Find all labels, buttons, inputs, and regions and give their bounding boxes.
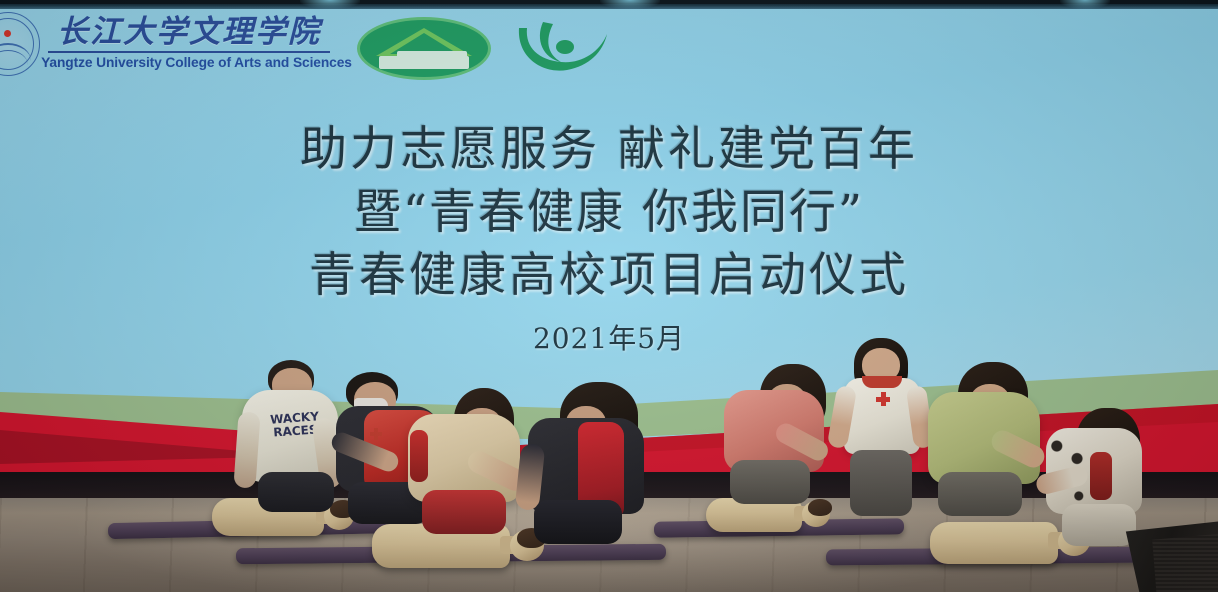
red-accent — [1090, 452, 1112, 500]
polo-collar — [862, 376, 902, 388]
seal-dot — [4, 30, 11, 37]
green-swoosh-health-logo-icon — [513, 14, 609, 78]
trainee-red-black-coat — [526, 382, 676, 552]
slide-title-line-1: 助力志愿服务 献礼建党百年 — [0, 118, 1218, 181]
red-cross-emblem-icon — [876, 392, 890, 406]
wordmark-rule — [48, 51, 330, 53]
book-shape — [379, 56, 469, 69]
university-name-cn: 长江大学文理学院 — [44, 14, 334, 50]
university-seal-icon — [0, 12, 40, 76]
slide-logo-band: 长江大学文理学院 Yangtze University College of A… — [0, 6, 1218, 84]
university-name-en: Yangtze University College of Arts and S… — [41, 55, 337, 70]
green-oval-school-logo-icon — [357, 17, 491, 80]
event-photograph: 长江大学文理学院 Yangtze University College of A… — [0, 0, 1218, 592]
slide-title-line-3: 青春健康高校项目启动仪式 — [0, 244, 1218, 307]
instructor-red-cross-polo — [830, 338, 940, 528]
speaker-grill — [1148, 534, 1218, 592]
red-cross-emblem-icon — [370, 428, 382, 440]
slide-title-line-2: 暨“青春健康 你我同行” — [0, 181, 1218, 244]
slide-title-block: 助力志愿服务 献礼建党百年 暨“青春健康 你我同行” 青春健康高校项目启动仪式 … — [0, 118, 1218, 359]
jacket-red-lining — [410, 430, 428, 482]
university-wordmark: 长江大学文理学院 Yangtze University College of A… — [44, 14, 334, 70]
